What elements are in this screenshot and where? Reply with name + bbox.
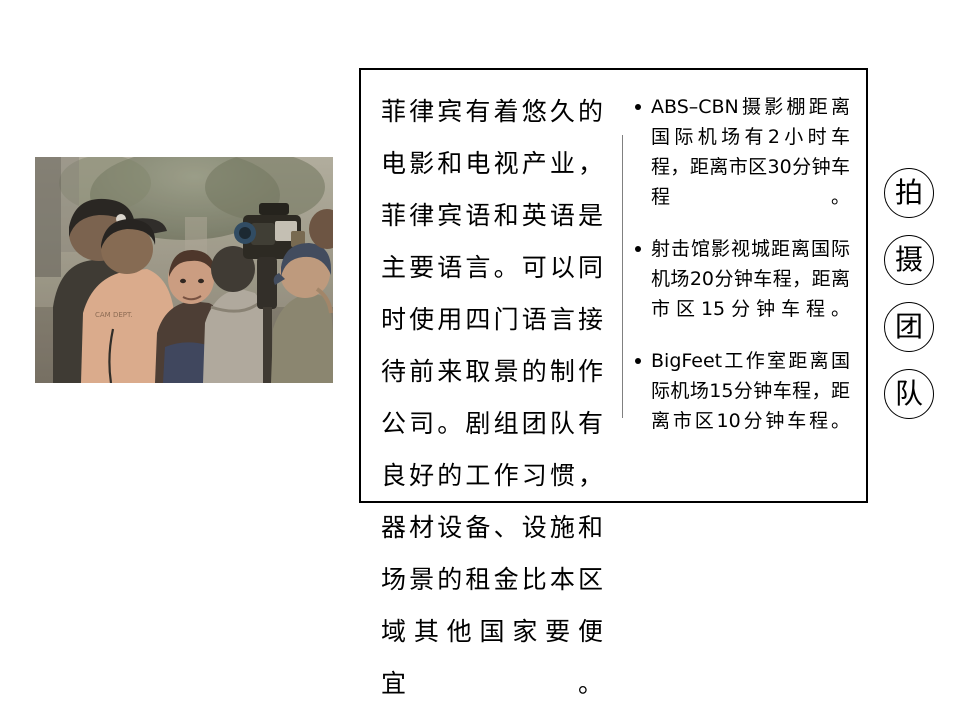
bullet-dot-icon bbox=[635, 246, 641, 252]
intro-paragraph: 菲律宾有着悠久的电影和电视产业，菲律宾语和英语是主要语言。可以同时使用四门语言接… bbox=[381, 86, 603, 710]
list-item-text: BigFeet工作室距离国际机场15分钟车程，距离市区10分钟车程。 bbox=[651, 350, 850, 432]
list-item: ABS–CBN摄影棚距离国际机场有2小时车程，距离市区30分钟车程。 bbox=[635, 92, 850, 212]
bullet-dot-icon bbox=[635, 104, 641, 110]
crew-photo: CAM DEPT. bbox=[35, 157, 333, 383]
content-box: 菲律宾有着悠久的电影和电视产业，菲律宾语和英语是主要语言。可以同时使用四门语言接… bbox=[359, 68, 868, 503]
column-divider bbox=[622, 135, 623, 418]
list-item: 射击馆影视城距离国际机场20分钟车程，距离市区15分钟车程。 bbox=[635, 234, 850, 324]
list-item-text: ABS–CBN摄影棚距离国际机场有2小时车程，距离市区30分钟车程。 bbox=[651, 96, 850, 208]
crew-photo-image: CAM DEPT. bbox=[35, 157, 333, 383]
bullet-dot-icon bbox=[635, 358, 641, 364]
side-label-char: 团 bbox=[884, 302, 934, 352]
list-item: BigFeet工作室距离国际机场15分钟车程，距离市区10分钟车程。 bbox=[635, 346, 850, 436]
bullet-list: ABS–CBN摄影棚距离国际机场有2小时车程，距离市区30分钟车程。 射击馆影视… bbox=[635, 92, 850, 436]
side-label-char: 队 bbox=[884, 369, 934, 419]
list-item-text: 射击馆影视城距离国际机场20分钟车程，距离市区15分钟车程。 bbox=[651, 238, 850, 320]
paragraph-column: 菲律宾有着悠久的电影和电视产业，菲律宾语和英语是主要语言。可以同时使用四门语言接… bbox=[381, 86, 603, 710]
side-label-char: 摄 bbox=[884, 235, 934, 285]
side-label-char: 拍 bbox=[884, 168, 934, 218]
side-label: 拍 摄 团 队 bbox=[884, 168, 934, 419]
